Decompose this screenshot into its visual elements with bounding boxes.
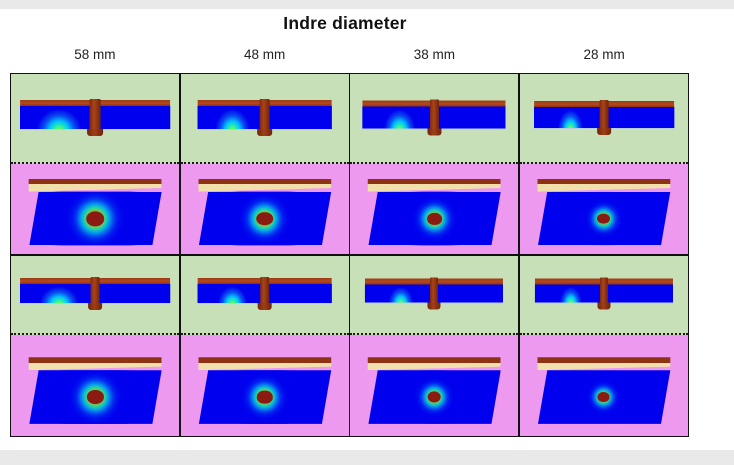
plate-top-edge [368, 179, 501, 192]
simulation-cell[interactable] [11, 74, 179, 254]
plate-top-edge [368, 357, 501, 370]
perspective-plate [198, 179, 331, 246]
inner-tube [91, 277, 100, 306]
cross-section-panel [350, 74, 518, 164]
inner-tube-foot [88, 303, 102, 310]
inner-tube [260, 277, 269, 306]
surface-view-panel [11, 164, 179, 254]
plate-top-edge [537, 179, 670, 192]
bottom-margin-band [0, 450, 734, 465]
column-header-0: 58 mm [10, 47, 180, 62]
perspective-plate [29, 357, 162, 424]
inner-tube [260, 99, 270, 132]
inner-tube-foot [428, 303, 441, 310]
cross-section-panel [181, 74, 349, 164]
plate-surface [198, 370, 331, 424]
surface-view-panel [181, 335, 349, 436]
surface-view-panel [181, 164, 349, 254]
simulation-cell[interactable] [11, 256, 179, 436]
plate-surface [537, 370, 670, 424]
hotspot-core [256, 212, 273, 226]
hotspot-core [257, 391, 272, 404]
cross-section-panel [11, 74, 179, 164]
plate-surface [29, 192, 162, 246]
plate-edge-light-band [537, 363, 670, 370]
perspective-plate [368, 179, 501, 246]
cross-section-panel [520, 256, 688, 335]
simulation-cell[interactable] [350, 256, 518, 436]
perspective-plate [537, 179, 670, 246]
inner-tube [599, 100, 608, 131]
plate-top-edge [29, 179, 162, 192]
cross-section-drawing [20, 100, 170, 130]
simulation-cell[interactable] [520, 74, 688, 254]
simulation-cell[interactable] [350, 74, 518, 254]
plate-edge-light-band [368, 363, 501, 370]
plate-surface [29, 370, 162, 424]
inner-tube [430, 100, 439, 132]
surface-view-panel [11, 335, 179, 436]
inner-tube-foot [427, 129, 441, 136]
surface-view-panel [520, 335, 688, 436]
cross-section-drawing [363, 101, 506, 130]
simulation-cell[interactable] [181, 74, 349, 254]
surface-view-panel [520, 164, 688, 254]
simulation-cell[interactable] [520, 256, 688, 436]
cross-section-drawing [365, 279, 503, 304]
plate-surface [368, 192, 501, 246]
cross-section-drawing [535, 279, 673, 304]
plate-edge-light-band [368, 184, 501, 191]
cross-section-panel [181, 256, 349, 335]
inner-tube [600, 278, 608, 306]
hotspot-core [598, 392, 610, 402]
cross-section-drawing [197, 100, 332, 130]
plate-edge-light-band [29, 184, 162, 191]
plate-edge-light-band [537, 184, 670, 191]
plate-surface [368, 370, 501, 424]
plate-top-edge [537, 357, 670, 370]
inner-tube [90, 99, 101, 132]
figure-root: Indre diameter 58 mm 48 mm 38 mm 28 mm D… [0, 0, 734, 465]
perspective-plate [537, 357, 670, 424]
cross-section-panel [11, 256, 179, 335]
inner-tube [430, 278, 438, 306]
perspective-plate [198, 357, 331, 424]
plate-surface [537, 192, 670, 246]
hotspot-core [427, 391, 441, 402]
surface-view-panel [350, 335, 518, 436]
cross-section-drawing [20, 278, 170, 304]
plate-top-edge [198, 357, 331, 370]
plate-top-edge [198, 179, 331, 192]
hotspot-core [427, 212, 442, 224]
column-header-2: 38 mm [350, 47, 520, 62]
cross-section-drawing [197, 278, 332, 304]
column-header-1: 48 mm [180, 47, 350, 62]
surface-view-panel [350, 164, 518, 254]
hotspot-core [597, 213, 610, 224]
column-axis-title: Indre diameter [0, 13, 690, 34]
perspective-plate [29, 179, 162, 246]
plate-surface [198, 192, 331, 246]
inner-tube-foot [258, 303, 272, 310]
plate-edge-light-band [198, 363, 331, 370]
cross-section-panel [520, 74, 688, 164]
plate-edge-light-band [29, 363, 162, 370]
plate-edge-light-band [198, 184, 331, 191]
plate-top-edge [29, 357, 162, 370]
hotspot-core [86, 211, 105, 226]
inner-tube-foot [597, 303, 610, 310]
cross-section-drawing [534, 101, 674, 129]
top-margin-band [0, 0, 734, 9]
perspective-plate [368, 357, 501, 424]
simulation-cell[interactable] [181, 256, 349, 436]
cross-section-panel [350, 256, 518, 335]
hotspot-core [87, 390, 104, 404]
inner-tube-foot [257, 129, 272, 136]
column-header-3: 28 mm [519, 47, 689, 62]
simulation-grid [10, 73, 689, 437]
inner-tube-foot [597, 128, 611, 135]
inner-tube-foot [87, 129, 103, 136]
